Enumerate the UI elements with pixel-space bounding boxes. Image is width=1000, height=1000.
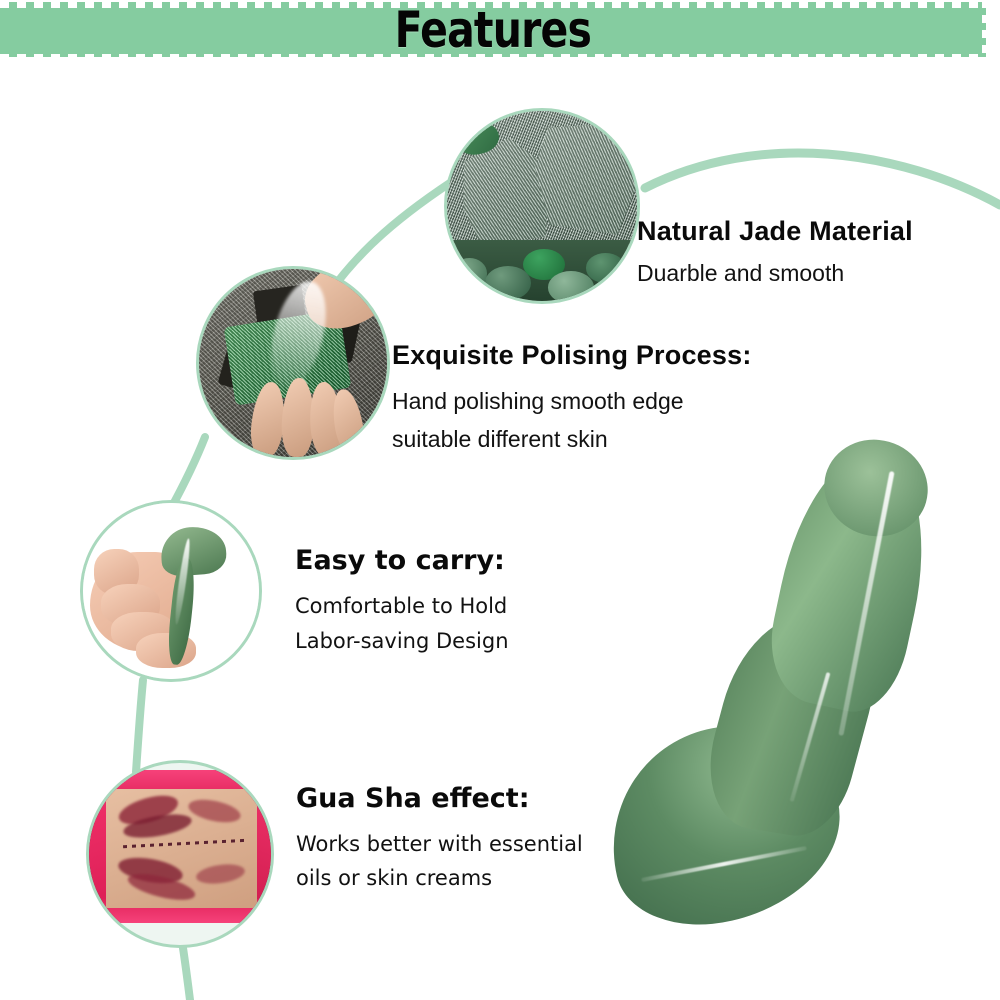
- feature-text-easy-to-carry: Easy to carry: Comfortable to Hold Labor…: [295, 545, 509, 659]
- feature-image-exquisite-polising-process: [196, 266, 390, 460]
- feature-image-natural-jade-material: [444, 108, 640, 304]
- feature-line: Duarble and smooth: [637, 258, 913, 288]
- feature-text-natural-jade-material: Natural Jade Material Duarble and smooth: [637, 216, 913, 288]
- feature-line: Works better with essential: [296, 827, 583, 861]
- feature-line: Labor-saving Design: [295, 624, 509, 659]
- back-with-gua-sha-marks: [89, 770, 271, 923]
- feature-heading: Exquisite Polising Process:: [392, 340, 752, 371]
- feature-text-exquisite-polising-process: Exquisite Polising Process: Hand polishi…: [392, 340, 752, 458]
- feature-image-easy-to-carry: [80, 500, 262, 682]
- feature-heading: Gua Sha effect:: [296, 783, 583, 814]
- product-photo-jade-gua-sha-scraper: [600, 440, 1000, 920]
- feature-line: suitable different skin: [392, 420, 752, 458]
- feature-heading: Natural Jade Material: [637, 216, 913, 247]
- features-infographic: Features: [0, 0, 1000, 1000]
- feature-image-gua-sha-effect: [86, 760, 274, 948]
- feature-line: oils or skin creams: [296, 861, 583, 895]
- polished-jade-pebbles: [447, 240, 637, 301]
- feature-line: Hand polishing smooth edge: [392, 382, 752, 420]
- feature-text-gua-sha-effect: Gua Sha effect: Works better with essent…: [296, 783, 583, 895]
- gua-sha-tool-in-hand: [157, 524, 227, 665]
- feature-heading: Easy to carry:: [295, 545, 509, 576]
- feature-line: Comfortable to Hold: [295, 589, 509, 624]
